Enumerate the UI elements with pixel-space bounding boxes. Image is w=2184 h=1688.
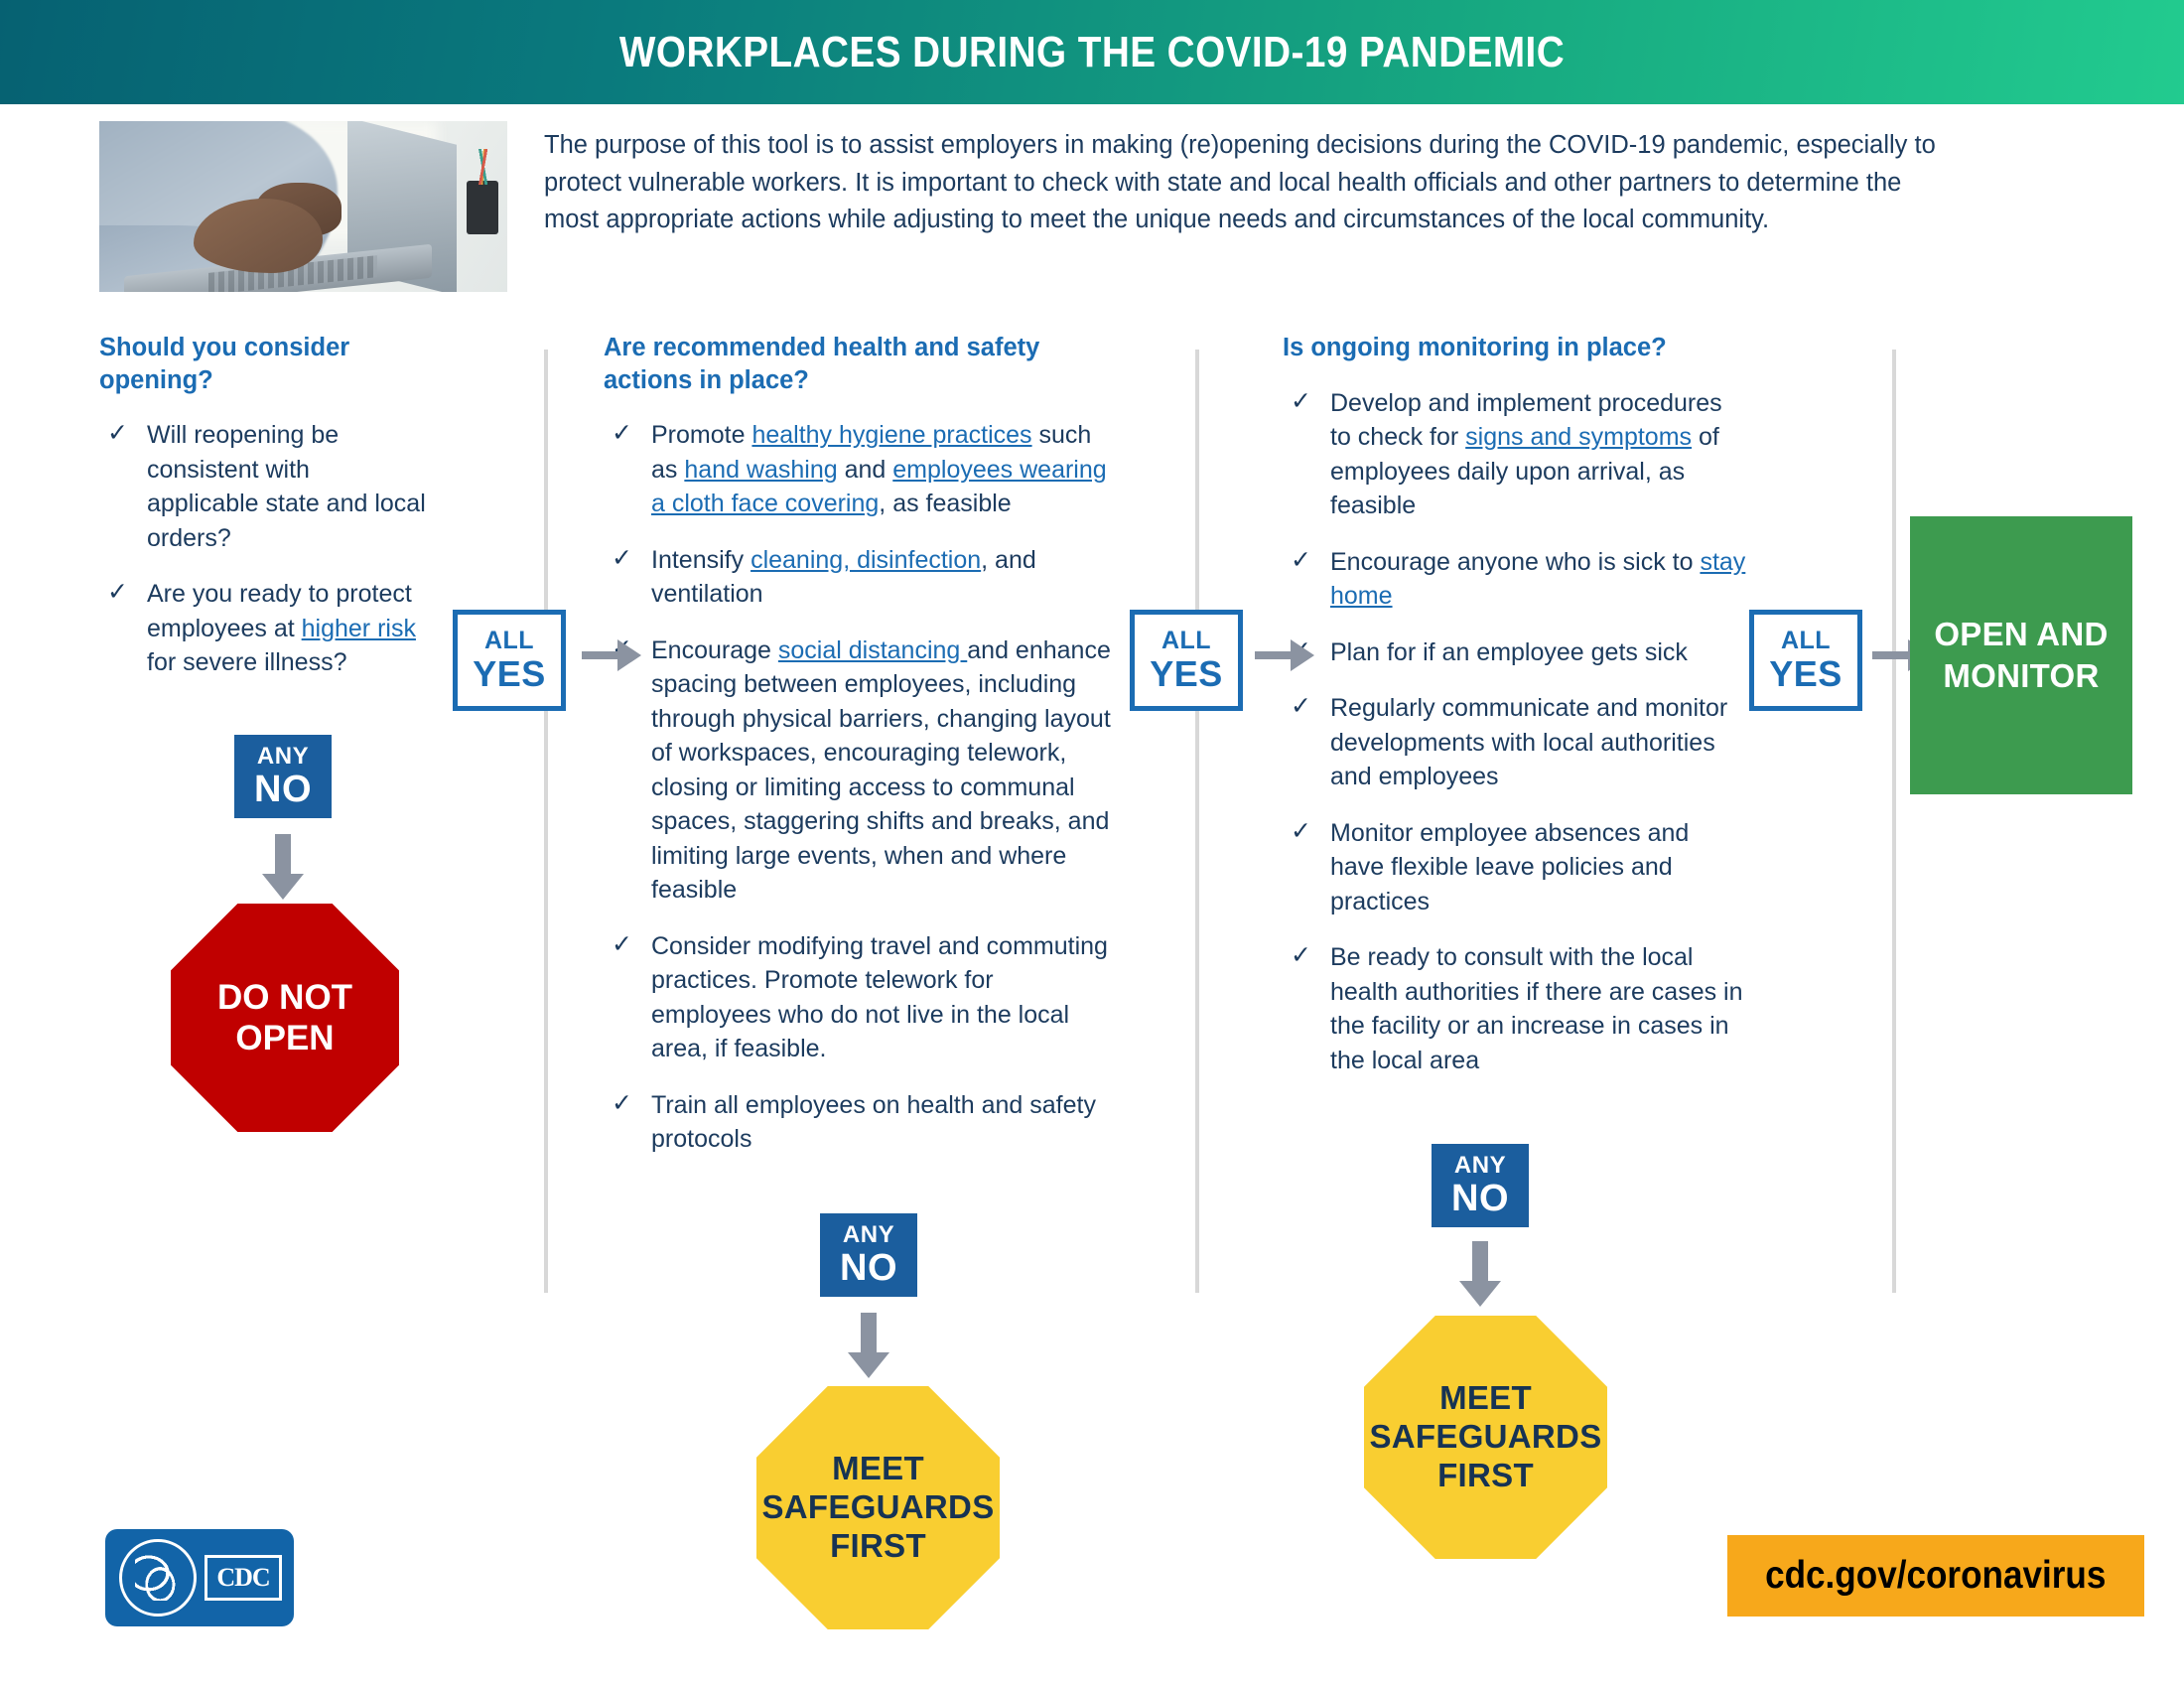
gate-all-yes-2: ALL YES <box>1130 610 1243 711</box>
gate-all-yes-3-line1: ALL <box>1781 629 1831 653</box>
checklist-item: ✓Monitor employee absences and have flex… <box>1283 816 1749 919</box>
checklist-item: ✓Will reopening be consistent with appli… <box>99 418 427 555</box>
column-1-checklist: ✓Will reopening be consistent with appli… <box>99 418 427 680</box>
checkmark-icon: ✓ <box>107 416 128 451</box>
checklist-item: ✓Intensify cleaning, disinfection, and v… <box>604 543 1120 612</box>
checklist-item: ✓Train all employees on health and safet… <box>604 1088 1120 1157</box>
checklist-item: ✓Plan for if an employee gets sick <box>1283 635 1749 670</box>
checklist-item: ✓Promote healthy hygiene practices such … <box>604 418 1120 521</box>
cdc-url-badge[interactable]: cdc.gov/coronavirus <box>1727 1535 2144 1617</box>
inline-text: Intensify <box>651 546 751 574</box>
inline-text: Be ready to consult with the local healt… <box>1330 943 1743 1074</box>
inline-text: Monitor employee absences and have flexi… <box>1330 819 1689 915</box>
checkmark-icon: ✓ <box>612 927 632 962</box>
arrow-right-icon-2 <box>1255 635 1316 675</box>
checklist-item: ✓Are you ready to protect employees at h… <box>99 577 427 680</box>
outcome-open-and-monitor-label: OPEN AND MONITOR <box>1910 614 2132 696</box>
outcome-do-not-open: DO NOT OPEN <box>171 904 399 1132</box>
gate-any-no-1: ANY NO <box>234 735 332 818</box>
inline-text: and <box>838 456 893 484</box>
checklist-item-text: Promote healthy hygiene practices such a… <box>651 421 1107 517</box>
cdc-url-label: cdc.gov/coronavirus <box>1765 1554 2106 1598</box>
decision-column-3: Is ongoing monitoring in place? ✓Develop… <box>1283 332 1749 1077</box>
hhs-bird-icon <box>135 1555 181 1601</box>
gate-any-no-2: ANY NO <box>820 1213 917 1297</box>
checklist-item-text: Intensify cleaning, disinfection, and ve… <box>651 546 1036 609</box>
checklist-item-text: Are you ready to protect employees at hi… <box>147 580 416 676</box>
outcome-meet-safeguards-first-2: MEET SAFEGUARDS FIRST <box>1364 1316 1607 1559</box>
inline-text: Encourage anyone who is sick to <box>1330 548 1700 576</box>
checklist-item-text: Will reopening be consistent with applic… <box>147 421 426 552</box>
inline-text: for severe illness? <box>147 648 346 676</box>
page-title: WORKPLACES DURING THE COVID-19 PANDEMIC <box>619 28 1565 77</box>
checklist-item-text: Develop and implement procedures to chec… <box>1330 389 1722 520</box>
inline-link[interactable]: cleaning, disinfection <box>751 546 981 574</box>
checklist-item: ✓Regularly communicate and monitor devel… <box>1283 691 1749 794</box>
column-divider-2 <box>1195 350 1199 1293</box>
decision-column-1: Should you consider opening? ✓Will reope… <box>99 332 427 680</box>
arrow-down-icon-2 <box>848 1313 889 1378</box>
inline-text: and enhance spacing between employees, i… <box>651 636 1111 905</box>
outcome-open-and-monitor: OPEN AND MONITOR <box>1910 516 2132 794</box>
inline-text: Promote <box>651 421 751 449</box>
checkmark-icon: ✓ <box>107 575 128 610</box>
checkmark-icon: ✓ <box>1291 384 1311 419</box>
gate-any-no-3: ANY NO <box>1432 1144 1529 1227</box>
arrow-down-icon-1 <box>262 834 304 900</box>
inline-link[interactable]: hand washing <box>684 456 837 484</box>
gate-all-yes-2-line2: YES <box>1150 656 1223 692</box>
column-divider-1 <box>544 350 548 1293</box>
outcome-meet-safeguards-label-1: MEET SAFEGUARDS FIRST <box>756 1450 1000 1566</box>
checklist-item: ✓Be ready to consult with the local heal… <box>1283 940 1749 1077</box>
gate-any-no-1-line1: ANY <box>257 745 309 769</box>
gate-any-no-1-line2: NO <box>254 771 312 808</box>
hero-photo-laptop-typing <box>99 121 507 292</box>
hhs-cdc-logo: CDC <box>105 1529 294 1626</box>
page-header: WORKPLACES DURING THE COVID-19 PANDEMIC <box>0 0 2184 104</box>
checklist-item-text: Monitor employee absences and have flexi… <box>1330 819 1689 915</box>
column-1-heading: Should you consider opening? <box>99 332 427 396</box>
inline-link[interactable]: signs and symptoms <box>1465 423 1692 451</box>
photo-pencil-cup <box>467 181 498 234</box>
checkmark-icon: ✓ <box>1291 938 1311 973</box>
column-3-checklist: ✓Develop and implement procedures to che… <box>1283 386 1749 1078</box>
checklist-item: ✓Consider modifying travel and commuting… <box>604 929 1120 1066</box>
outcome-meet-safeguards-label-2: MEET SAFEGUARDS FIRST <box>1364 1379 1607 1495</box>
inline-text: Regularly communicate and monitor develo… <box>1330 694 1727 790</box>
checklist-item-text: Encourage social distancing and enhance … <box>651 636 1111 905</box>
checklist-item: ✓Encourage anyone who is sick to stay ho… <box>1283 545 1749 614</box>
inline-text: Will reopening be consistent with applic… <box>147 421 426 552</box>
checklist-item: ✓Develop and implement procedures to che… <box>1283 386 1749 523</box>
photo-pencils <box>469 149 498 185</box>
gate-any-no-3-line2: NO <box>1451 1180 1509 1217</box>
gate-all-yes-2-line1: ALL <box>1161 629 1211 653</box>
column-2-heading: Are recommended health and safety action… <box>604 332 1120 396</box>
checklist-item-text: Consider modifying travel and commuting … <box>651 932 1108 1063</box>
checkmark-icon: ✓ <box>1291 814 1311 849</box>
gate-any-no-2-line2: NO <box>840 1249 897 1287</box>
column-divider-3 <box>1892 350 1896 1293</box>
inline-link[interactable]: higher risk <box>302 615 416 642</box>
gate-all-yes-3-line2: YES <box>1769 656 1843 692</box>
inline-link[interactable]: healthy hygiene practices <box>751 421 1031 449</box>
gate-any-no-2-line1: ANY <box>843 1223 894 1247</box>
outcome-do-not-open-label: DO NOT OPEN <box>171 977 399 1059</box>
gate-all-yes-1: ALL YES <box>453 610 566 711</box>
checklist-item-text: Encourage anyone who is sick to stay hom… <box>1330 548 1745 611</box>
gate-all-yes-1-line1: ALL <box>484 629 534 653</box>
inline-text: Plan for if an employee gets sick <box>1330 638 1688 666</box>
arrow-down-icon-3 <box>1459 1241 1501 1307</box>
checkmark-icon: ✓ <box>612 416 632 451</box>
intro-paragraph: The purpose of this tool is to assist em… <box>544 127 1944 239</box>
inline-text: Encourage <box>651 636 778 664</box>
gate-all-yes-1-line2: YES <box>473 656 546 692</box>
checkmark-icon: ✓ <box>1291 689 1311 724</box>
column-2-checklist: ✓Promote healthy hygiene practices such … <box>604 418 1120 1157</box>
column-3-heading: Is ongoing monitoring in place? <box>1283 332 1749 364</box>
outcome-meet-safeguards-first-1: MEET SAFEGUARDS FIRST <box>756 1386 1000 1629</box>
checklist-item-text: Regularly communicate and monitor develo… <box>1330 694 1727 790</box>
checklist-item-text: Train all employees on health and safety… <box>651 1091 1096 1154</box>
inline-text: , as feasible <box>879 490 1011 517</box>
cdc-wordmark: CDC <box>205 1555 282 1601</box>
checklist-item-text: Be ready to consult with the local healt… <box>1330 943 1743 1074</box>
gate-all-yes-3: ALL YES <box>1749 610 1862 711</box>
checklist-item: ✓Encourage social distancing and enhance… <box>604 633 1120 908</box>
inline-link[interactable]: social distancing <box>778 636 967 664</box>
decision-column-2: Are recommended health and safety action… <box>604 332 1120 1157</box>
inline-text: Consider modifying travel and commuting … <box>651 932 1108 1063</box>
gate-any-no-3-line1: ANY <box>1454 1154 1506 1178</box>
inline-text: Train all employees on health and safety… <box>651 1091 1096 1154</box>
checkmark-icon: ✓ <box>612 1086 632 1121</box>
checkmark-icon: ✓ <box>1291 543 1311 578</box>
arrow-right-icon-1 <box>582 635 643 675</box>
checklist-item-text: Plan for if an employee gets sick <box>1330 638 1688 666</box>
checkmark-icon: ✓ <box>612 541 632 576</box>
